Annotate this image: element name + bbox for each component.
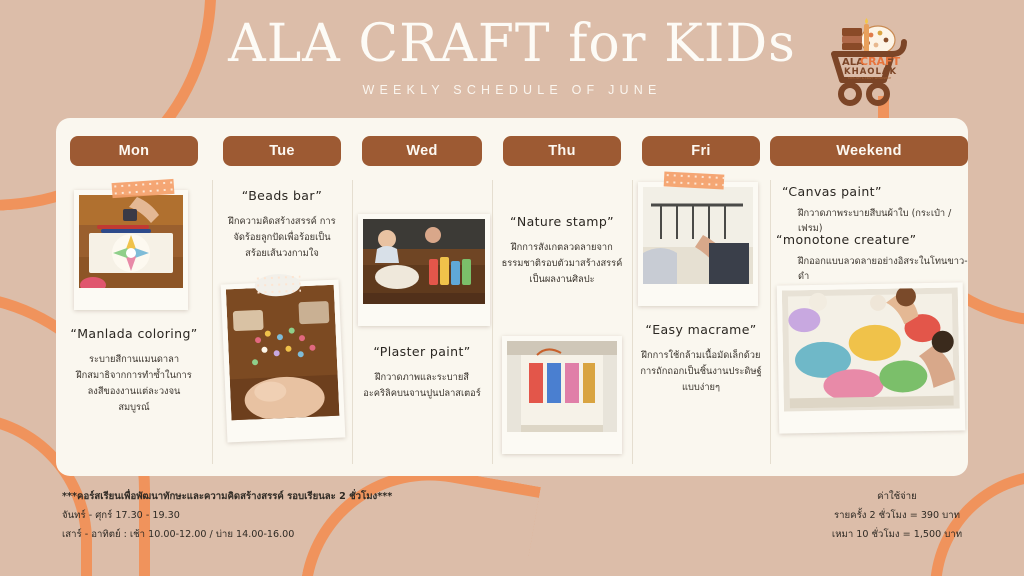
activity-desc-thu-0: ฝึกการสังเกตลวดลายจาก ธรรมชาติรอบตัวมาสร…	[494, 240, 630, 288]
day-header-cell-weekend: Weekend	[770, 136, 968, 166]
polaroid-fri[interactable]	[638, 182, 758, 306]
price-single-session: รายครั้ง 2 ชั่วโมง = 390 บาท	[792, 506, 1002, 525]
day-pill-thu[interactable]: Thu	[503, 136, 621, 166]
beads-bracelet-making-photo	[226, 285, 340, 421]
tape-blob-tue	[254, 273, 301, 297]
schedule-column-mon: “Manlada coloring” ระบายสีกานแมนดาลา ฝึก…	[56, 174, 212, 476]
price-title: ค่าใช้จ่าย	[792, 487, 1002, 506]
plaster-paint-table-photo	[363, 219, 485, 304]
footer-schedule-info: ***คอร์สเรียนเพื่อพัฒนาทักษะและความคิดสร…	[62, 487, 392, 544]
activity-desc-weekend-1: ฝึกออกแบบลวดลายอย่างอิสระในโทนขาว-ดำ	[782, 254, 968, 284]
day-header-cell-mon: Mon	[56, 136, 212, 166]
activity-title-tue-0: “Beads bar”	[212, 188, 352, 203]
poster-root: ALA CRAFT for KIDs WEEKLY SCHEDULE OF JU…	[0, 0, 1024, 576]
activity-title-weekend-1: “monotone creature”	[776, 232, 968, 247]
activity-desc-line: ลงสีของงานแต่ละวงจน	[62, 384, 206, 400]
schedule-columns: “Manlada coloring” ระบายสีกานแมนดาลา ฝึก…	[56, 174, 968, 476]
day-header-cell-thu: Thu	[492, 136, 632, 166]
activity-desc-tue-0: ฝึกความคิดสร้างสรรค์ การ จัดร้อยลูกปัดเพ…	[216, 214, 348, 262]
footer-hours-weekend: เสาร์ - อาทิตย์ : เช้า 10.00-12.00 / บ่า…	[62, 525, 392, 544]
activity-desc-line: แบบง่ายๆ	[632, 380, 770, 396]
activity-desc-line: ธรรมชาติรอบตัวมาสร้างสรรค์	[494, 256, 630, 272]
day-pill-fri[interactable]: Fri	[642, 136, 760, 166]
day-pill-mon[interactable]: Mon	[70, 136, 198, 166]
activity-desc-line: สร้อยเส้นวงกามใจ	[216, 246, 348, 262]
child-coloring-mandala-photo	[79, 195, 183, 288]
activity-desc-line: เป็นผลงานศิลปะ	[494, 272, 630, 288]
activity-desc-fri-0: ฝึกการใช้กล้ามเนื้อมัดเล็กด้วย การถักถอก…	[632, 348, 770, 396]
schedule-column-fri: “Easy macrame” ฝึกการใช้กล้ามเนื้อมัดเล็…	[632, 174, 770, 476]
schedule-column-tue: “Beads bar” ฝึกความคิดสร้างสรรค์ การ จัด…	[212, 174, 352, 476]
activity-desc-line: จัดร้อยลูกปัดเพื่อร้อยเป็น	[216, 230, 348, 246]
nature-stamp-printing-photo	[507, 341, 617, 432]
activity-desc-wed-0: ฝึกวาดภาพและระบายสี อะคริลิคบนจานปูนปลาส…	[354, 370, 490, 402]
footer-pricing-info: ค่าใช้จ่าย รายครั้ง 2 ชั่วโมง = 390 บาท …	[792, 487, 1002, 544]
activity-desc-line: การถักถอกเป็นชิ้นงานประดิษฐ์	[632, 364, 770, 380]
activity-desc-line: ฝึกความคิดสร้างสรรค์ การ	[216, 214, 348, 230]
activity-desc-line: ฝึกสมาธิจากการทำซ้ำในการ	[62, 368, 206, 384]
activity-desc-mon-0: ระบายสีกานแมนดาลา ฝึกสมาธิจากการทำซ้ำในก…	[62, 352, 206, 416]
activity-desc-line: ฝึกออกแบบลวดลายอย่างอิสระในโทนขาว-ดำ	[798, 254, 968, 284]
footer-hours-weekday: จันทร์ - ศุกร์ 17.30 - 19.30	[62, 506, 392, 525]
activity-desc-line: ฝึกวาดภาพและระบายสี	[354, 370, 490, 386]
macrame-weaving-photo	[643, 187, 753, 284]
kids-canvas-painting-floor-photo	[782, 287, 960, 411]
activity-title-weekend-0: “Canvas paint”	[782, 184, 968, 199]
activity-desc-line: ระบายสีกานแมนดาลา	[62, 352, 206, 368]
activity-desc-line: อะคริลิคบนจานปูนปลาสเตอร์	[354, 386, 490, 402]
activity-desc-line: ฝึกการสังเกตลวดลายจาก	[494, 240, 630, 256]
activity-title-fri-0: “Easy macrame”	[632, 322, 770, 337]
brand-logo: ALA CRAFT KHAOLAK KIDS ART & CRAFT WORKS…	[816, 14, 928, 110]
activity-title-thu-0: “Nature stamp”	[492, 214, 632, 229]
day-header-bar: Mon Tue Wed Thu Fri Weekend	[56, 136, 968, 166]
schedule-card: Mon Tue Wed Thu Fri Weekend	[56, 118, 968, 476]
price-package: เหมา 10 ชั่วโมง = 1,500 บาท	[792, 525, 1002, 544]
day-header-cell-fri: Fri	[632, 136, 770, 166]
logo-text-tagline: KIDS ART & CRAFT WORKSHOP	[848, 76, 891, 80]
polaroid-wed[interactable]	[358, 214, 490, 326]
schedule-column-weekend: “Canvas paint” ฝึกวาดภาพระบายสีบนผ้าใบ (…	[770, 174, 968, 476]
day-header-cell-wed: Wed	[352, 136, 492, 166]
schedule-column-wed: “Plaster paint” ฝึกวาดภาพและระบายสี อะคร…	[352, 174, 492, 476]
polaroid-mon[interactable]	[74, 190, 188, 310]
activity-desc-line: สมบูรณ์	[62, 400, 206, 416]
day-pill-wed[interactable]: Wed	[362, 136, 482, 166]
activity-title-mon-0: “Manlada coloring”	[56, 326, 212, 341]
polaroid-thu[interactable]	[502, 336, 622, 454]
activity-desc-line: ฝึกการใช้กล้ามเนื้อมัดเล็กด้วย	[632, 348, 770, 364]
day-pill-weekend[interactable]: Weekend	[770, 136, 968, 166]
day-pill-tue[interactable]: Tue	[223, 136, 341, 166]
footer-note: ***คอร์สเรียนเพื่อพัฒนาทักษะและความคิดสร…	[62, 487, 392, 506]
polaroid-weekend[interactable]	[777, 282, 966, 433]
shopping-cart-logo-icon: ALA CRAFT KHAOLAK KIDS ART & CRAFT WORKS…	[816, 14, 928, 110]
activity-title-wed-0: “Plaster paint”	[352, 344, 492, 359]
polaroid-tue[interactable]	[221, 280, 346, 443]
washi-tape-fri	[664, 171, 725, 189]
schedule-column-thu: “Nature stamp” ฝึกการสังเกตลวดลายจาก ธรร…	[492, 174, 632, 476]
day-header-cell-tue: Tue	[212, 136, 352, 166]
